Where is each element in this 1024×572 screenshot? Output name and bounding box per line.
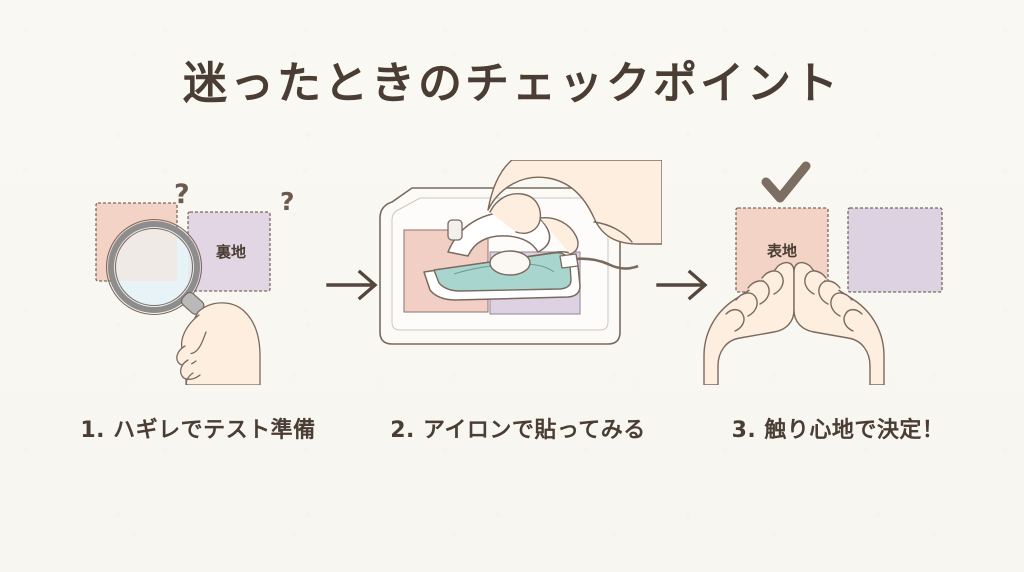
swatch-uraji-label: 裏地 [215, 243, 246, 261]
step-3-illustration: 表地 [700, 160, 1000, 385]
step-3-caption: 3. 触り心地で決定！ [678, 418, 998, 444]
check-icon [766, 166, 806, 198]
infographic-stage: 迷ったときのチェックポイント 表地 裏地 ? ? ? [0, 0, 1024, 572]
step-2-illustration [362, 160, 662, 385]
swatch-uraji [848, 208, 942, 292]
swatch-omoteji-label: 表地 [767, 242, 797, 260]
step-1-illustration: 表地 裏地 ? ? ? [48, 160, 348, 385]
step-2-caption: 2. アイロンで貼ってみる [358, 418, 678, 444]
step-1-caption: 1. ハギレでテスト準備 [38, 418, 358, 444]
page-title: 迷ったときのチェックポイント [0, 62, 1024, 106]
hand-icon [177, 303, 260, 385]
question-mark-icon: ? [174, 179, 190, 210]
question-mark-icon: ? [280, 187, 295, 216]
